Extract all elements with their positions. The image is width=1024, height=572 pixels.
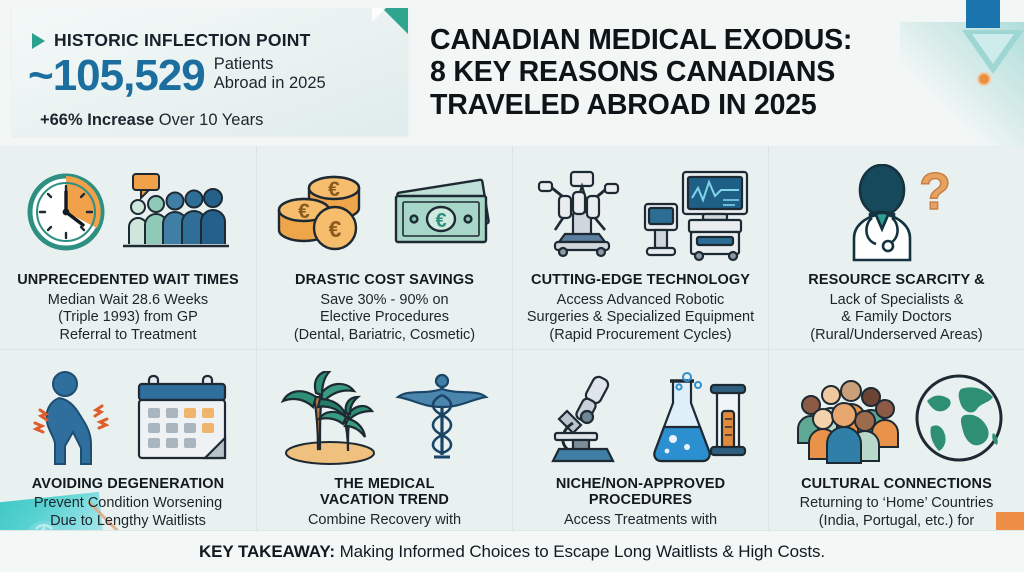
svg-text:€: €: [328, 178, 340, 201]
card-title: DRASTIC COST SAVINGS: [295, 272, 474, 289]
statistic-kicker-label: HISTORIC INFLECTION POINT: [54, 30, 311, 51]
page-title-line1: CANADIAN MEDICAL EXODUS:: [430, 24, 990, 56]
clock-and-queue-icon: [23, 158, 233, 270]
card-body-line: Lack of Specialists &: [810, 292, 982, 310]
page-title-line2: 8 KEY REASONS CANADIANS: [430, 56, 990, 88]
statistic-row: ~105,529 Patients Abroad in 2025: [28, 54, 326, 98]
card-body-line: Referral to Treatment: [48, 327, 208, 345]
card-title: CULTURAL CONNECTIONS: [801, 476, 992, 493]
statistic-subtext: +66% Increase Over 10 Years: [40, 111, 263, 130]
svg-text:€: €: [328, 216, 341, 242]
card-body-line: Prevent Condition Worsening: [34, 495, 222, 513]
card-title: UNPRECEDENTED WAIT TIMES: [17, 272, 239, 289]
card-title: RESOURCE SCARCITY &: [808, 272, 984, 289]
card-title-line: THE MEDICAL: [320, 476, 449, 493]
card-title: AVOIDING DEGENERATION: [32, 476, 225, 493]
card-body-line: Save 30% - 90% on: [294, 292, 475, 310]
card-body-line: (Rapid Procurement Cycles): [527, 327, 754, 345]
microscope-and-flask-icon: [531, 362, 751, 474]
card-body-line: Access Advanced Robotic: [527, 292, 754, 310]
card-body: Access Advanced Robotic Surgeries & Spec…: [523, 292, 758, 345]
doctor-with-question-mark-icon: ?: [822, 158, 972, 270]
card-body-line: Surgeries & Specialized Equipment: [527, 309, 754, 327]
reason-card-resource-scarcity: ? RESOURCE SCARCITY & Lack of Specialist…: [768, 146, 1024, 349]
key-takeaway: KEY TAKEAWAY: Making Informed Choices to…: [199, 542, 825, 562]
card-body-line: (Triple 1993) from GP: [48, 309, 208, 327]
statistic-badge: HISTORIC INFLECTION POINT ~105,529 Patie…: [12, 8, 408, 136]
svg-text:€: €: [298, 200, 310, 223]
statistic-unit-line1: Patients: [214, 55, 274, 73]
key-takeaway-text: Making Informed Choices to Escape Long W…: [335, 542, 825, 561]
statistic-number: ~105,529: [28, 54, 205, 98]
card-body: Lack of Specialists & & Family Doctors (…: [806, 292, 986, 345]
coins-and-banknotes-icon: € € € €: [272, 158, 498, 270]
card-title: CUTTING-EDGE TECHNOLOGY: [531, 272, 750, 289]
reasons-grid: UNPRECEDENTED WAIT TIMES Median Wait 28.…: [0, 146, 1024, 530]
key-takeaway-label: KEY TAKEAWAY:: [199, 542, 335, 561]
statistic-subtext-bold: +66% Increase: [40, 111, 154, 129]
surgical-robot-and-monitor-icon: [529, 158, 753, 270]
card-title-line: VACATION TREND: [320, 492, 449, 509]
card-title-line: NICHE/NON-APPROVED: [556, 476, 725, 493]
card-body-line: Combine Recovery with: [292, 512, 478, 530]
reason-card-cost-savings: € € € € DRASTIC COST SAVINGS: [256, 146, 512, 349]
statistic-kicker: HISTORIC INFLECTION POINT: [32, 30, 311, 51]
card-title: THE MEDICALVACATION TREND: [320, 476, 449, 509]
page-title: CANADIAN MEDICAL EXODUS: 8 KEY REASONS C…: [430, 24, 990, 121]
footer: KEY TAKEAWAY: Making Informed Choices to…: [0, 530, 1024, 572]
card-body-line: Elective Procedures: [294, 309, 475, 327]
reason-card-technology: CUTTING-EDGE TECHNOLOGY Access Advanced …: [512, 146, 768, 349]
diverse-people-and-globe-icon: [785, 362, 1009, 474]
card-body-line: (Dental, Bariatric, Cosmetic): [294, 327, 475, 345]
card-title: NICHE/NON-APPROVEDPROCEDURES: [556, 476, 725, 509]
card-body: Save 30% - 90% on Elective Procedures (D…: [290, 292, 479, 345]
card-body-line: & Family Doctors: [810, 309, 982, 327]
palm-tree-and-caduceus-icon: [276, 362, 494, 474]
svg-text:€: €: [435, 210, 446, 232]
svg-text:?: ?: [919, 164, 951, 221]
card-body: Median Wait 28.6 Weeks (Triple 1993) fro…: [44, 292, 212, 345]
card-body-line: Returning to ‘Home’ Countries: [800, 495, 994, 513]
card-title-line: PROCEDURES: [556, 492, 725, 509]
statistic-subtext-rest: Over 10 Years: [154, 111, 263, 129]
page-title-line3: TRAVELED ABROAD IN 2025: [430, 89, 990, 121]
card-body-line: Access Treatments with: [551, 512, 729, 530]
back-pain-person-and-calendar-icon: [21, 362, 235, 474]
header: HISTORIC INFLECTION POINT ~105,529 Patie…: [0, 0, 1024, 146]
play-triangle-icon: [32, 33, 45, 49]
card-body-line: Median Wait 28.6 Weeks: [48, 292, 208, 310]
badge-corner-fold: [372, 8, 386, 22]
card-body-line: (India, Portugal, etc.) for: [800, 513, 994, 531]
card-body-line: Due to Lengthy Waitlists: [34, 513, 222, 531]
statistic-unit: Patients Abroad in 2025: [214, 55, 326, 94]
statistic-unit-line2: Abroad in 2025: [214, 74, 326, 92]
infographic-canvas: HISTORIC INFLECTION POINT ~105,529 Patie…: [0, 0, 1024, 572]
reason-card-wait-times: UNPRECEDENTED WAIT TIMES Median Wait 28.…: [0, 146, 256, 349]
card-body-line: (Rural/Underserved Areas): [810, 327, 982, 345]
